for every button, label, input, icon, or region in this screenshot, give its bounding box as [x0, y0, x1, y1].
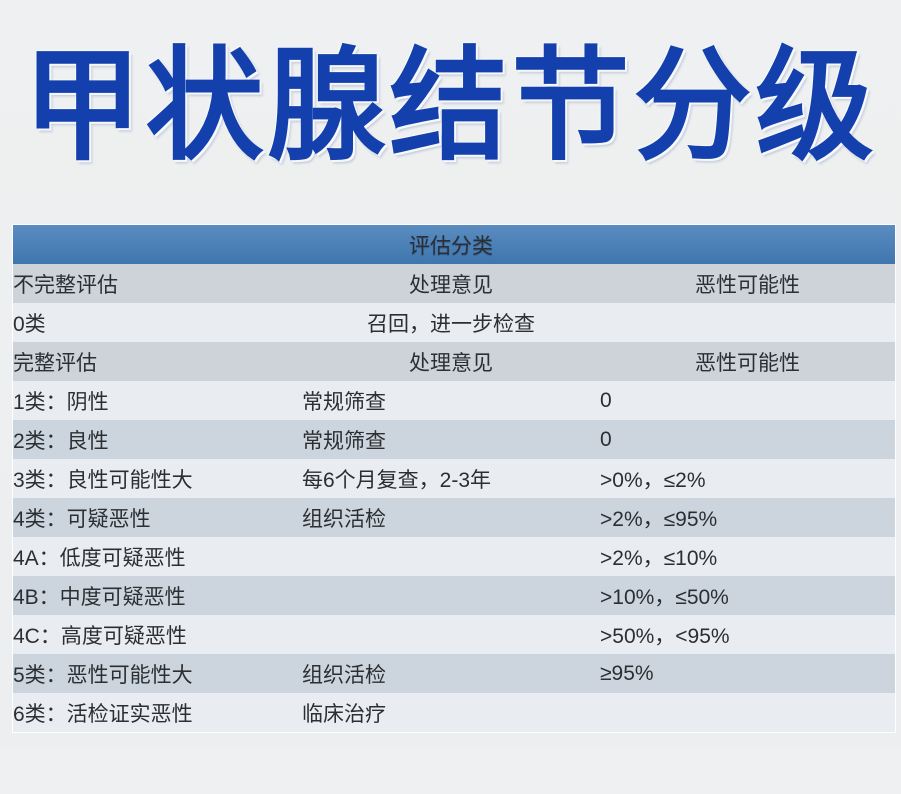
cell-management-recommendation: 处理意见 [302, 264, 600, 303]
cell-malignancy-probability: >2%，≤95% [600, 498, 895, 537]
page-title: 甲状腺结节分级 [23, 45, 877, 168]
cell-management-recommendation: 组织活检 [302, 654, 600, 693]
bottom-strip [0, 747, 901, 794]
table-row: 5类：恶性可能性大组织活检≥95% [13, 654, 895, 693]
table-row: 2类：良性常规筛查0 [13, 420, 895, 459]
table-row: 6类：活检证实恶性临床治疗 [13, 693, 895, 732]
cell-management-recommendation: 常规筛查 [302, 420, 600, 459]
title-area: 甲状腺结节分级 [0, 22, 901, 190]
cell-management-recommendation: 组织活检 [302, 498, 600, 537]
cell-management-recommendation [302, 576, 600, 615]
cell-management-recommendation: 每6个月复查，2-3年 [302, 459, 600, 498]
cell-malignancy-probability: >2%，≤10% [600, 537, 895, 576]
cell-malignancy-probability: >0%，≤2% [600, 459, 895, 498]
cell-grade-label: 4A：低度可疑恶性 [13, 537, 302, 576]
table-body: 不完整评估处理意见恶性可能性0类召回，进一步检查完整评估处理意见恶性可能性1类：… [13, 264, 895, 732]
cell-malignancy-probability [600, 693, 895, 732]
cell-management-recommendation: 常规筛查 [302, 381, 600, 420]
header-cell-assessment-classification: 评估分类 [302, 225, 600, 264]
table-row: 4类：可疑恶性组织活检>2%，≤95% [13, 498, 895, 537]
table-header-row: 评估分类 [13, 225, 895, 264]
header-cell-right [600, 225, 895, 264]
table-section-row: 完整评估处理意见恶性可能性 [13, 342, 895, 381]
cell-management-recommendation: 临床治疗 [302, 693, 600, 732]
cell-grade-label: 2类：良性 [13, 420, 302, 459]
cell-grade-label: 完整评估 [13, 342, 302, 381]
cell-grade-label: 5类：恶性可能性大 [13, 654, 302, 693]
cell-grade-label: 4B：中度可疑恶性 [13, 576, 302, 615]
cell-management-recommendation [302, 537, 600, 576]
header-cell-category [13, 225, 302, 264]
table-row: 3类：良性可能性大每6个月复查，2-3年>0%，≤2% [13, 459, 895, 498]
cell-grade-label: 3类：良性可能性大 [13, 459, 302, 498]
thyroid-nodule-grading-table: 评估分类 不完整评估处理意见恶性可能性0类召回，进一步检查完整评估处理意见恶性可… [13, 225, 895, 732]
cell-grade-label: 1类：阴性 [13, 381, 302, 420]
cell-malignancy-probability: 恶性可能性 [600, 342, 895, 381]
cell-malignancy-probability: >10%，≤50% [600, 576, 895, 615]
cell-malignancy-probability: 恶性可能性 [600, 264, 895, 303]
cell-management-recommendation: 召回，进一步检查 [302, 303, 600, 342]
cell-malignancy-probability: ≥95% [600, 654, 895, 693]
table-section-row: 不完整评估处理意见恶性可能性 [13, 264, 895, 303]
cell-management-recommendation [302, 615, 600, 654]
cell-management-recommendation: 处理意见 [302, 342, 600, 381]
table-row: 4C：高度可疑恶性>50%，<95% [13, 615, 895, 654]
cell-grade-label: 0类 [13, 303, 302, 342]
table-row: 4A：低度可疑恶性>2%，≤10% [13, 537, 895, 576]
cell-grade-label: 4类：可疑恶性 [13, 498, 302, 537]
cell-grade-label: 不完整评估 [13, 264, 302, 303]
cell-grade-label: 4C：高度可疑恶性 [13, 615, 302, 654]
cell-grade-label: 6类：活检证实恶性 [13, 693, 302, 732]
cell-malignancy-probability: >50%，<95% [600, 615, 895, 654]
table-row: 1类：阴性常规筛查0 [13, 381, 895, 420]
table-row: 0类召回，进一步检查 [13, 303, 895, 342]
cell-malignancy-probability: 0 [600, 420, 895, 459]
cell-malignancy-probability [600, 303, 895, 342]
table-row: 4B：中度可疑恶性>10%，≤50% [13, 576, 895, 615]
cell-malignancy-probability: 0 [600, 381, 895, 420]
